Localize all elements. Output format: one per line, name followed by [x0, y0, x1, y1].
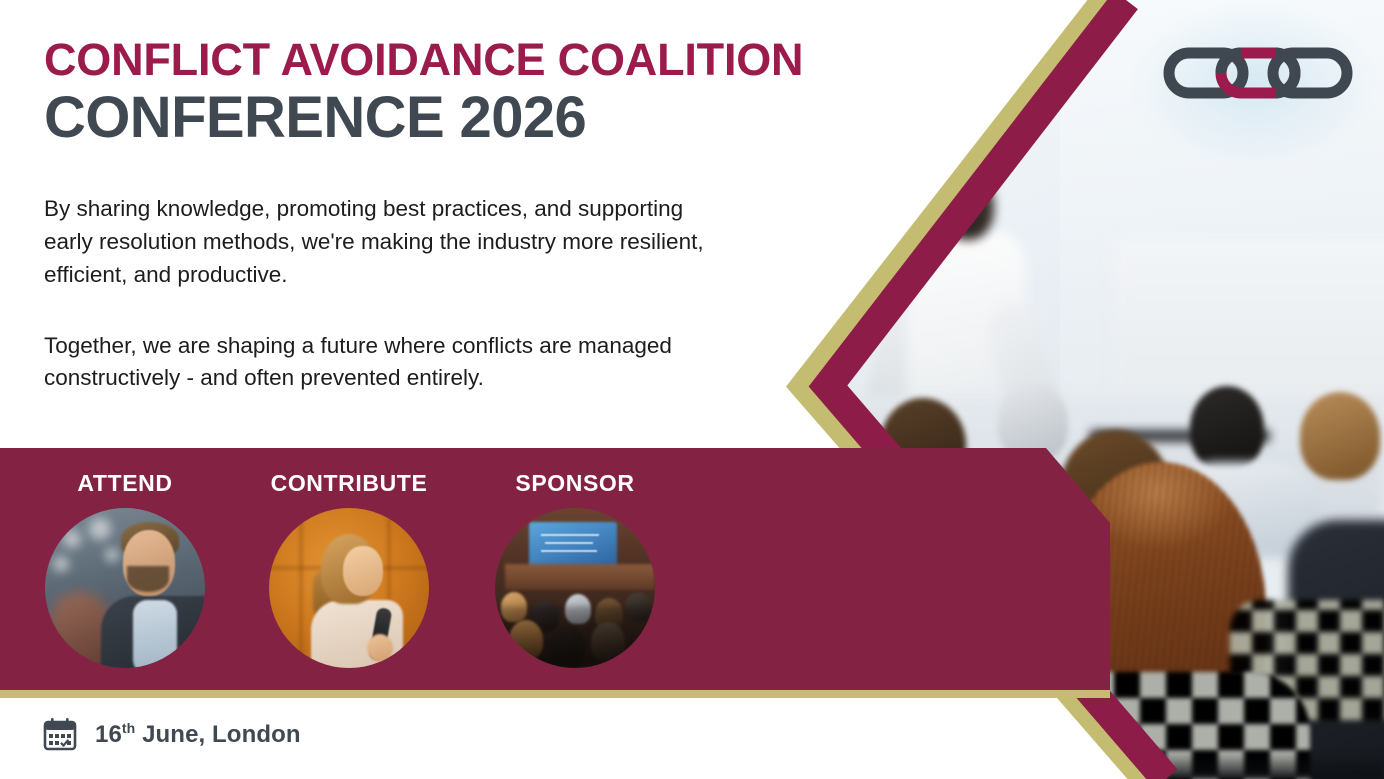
intro-copy: By sharing knowledge, promoting best pra…: [44, 193, 734, 395]
banner-canvas: CONFLICT AVOIDANCE COALITION CONFERENCE …: [0, 0, 1384, 779]
calendar-icon: [42, 716, 78, 752]
photo-conference-audience-plenary: [495, 508, 655, 668]
cta-contribute[interactable]: CONTRIBUTE: [259, 470, 439, 668]
cta-sponsor-label: SPONSOR: [485, 470, 665, 497]
event-date-footer: 16th June, London: [42, 716, 301, 752]
chain-link-logo: [1163, 42, 1353, 104]
gold-divider: [0, 690, 1110, 698]
event-date-text: 16th June, London: [95, 720, 301, 749]
cta-attend[interactable]: ATTEND: [35, 470, 215, 668]
event-day-ordinal: th: [122, 720, 135, 736]
page-title: CONFLICT AVOIDANCE COALITION CONFERENCE …: [44, 36, 944, 148]
headline-main: CONFERENCE 2026: [44, 87, 944, 148]
photo-businessman-at-expo: [45, 508, 205, 668]
cta-sponsor[interactable]: SPONSOR: [485, 470, 665, 668]
intro-paragraph-1: By sharing knowledge, promoting best pra…: [44, 193, 734, 292]
headline-eyebrow: CONFLICT AVOIDANCE COALITION: [44, 36, 944, 85]
cta-attend-label: ATTEND: [35, 470, 215, 497]
photo-woman-speaker-with-microphone: [269, 508, 429, 668]
event-day: 16: [95, 721, 122, 748]
event-location: June, London: [135, 721, 300, 748]
cta-contribute-label: CONTRIBUTE: [259, 470, 439, 497]
intro-paragraph-2: Together, we are shaping a future where …: [44, 330, 734, 396]
